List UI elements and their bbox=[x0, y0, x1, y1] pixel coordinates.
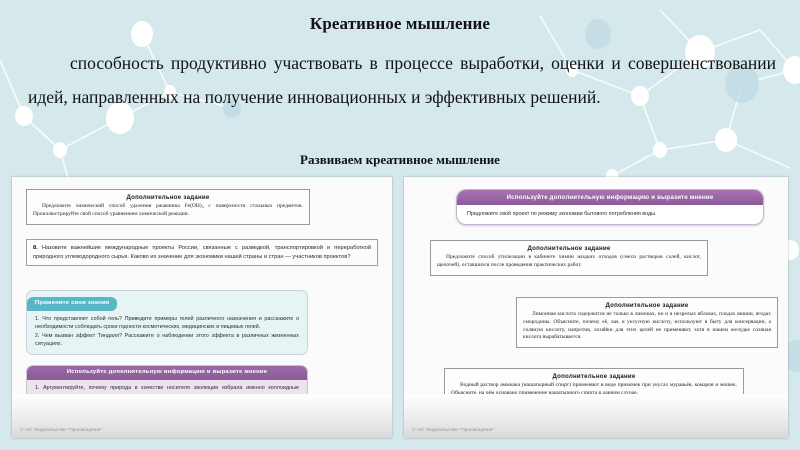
additional-task-heading-3: Дополнительное задание bbox=[451, 373, 737, 380]
additional-task-box-1: Дополнительное задание Предложите способ… bbox=[430, 240, 708, 276]
additional-task-box-3: Дополнительное задание Водный раствор ам… bbox=[444, 368, 744, 404]
slide-definition-text: способность продуктивно участвовать в пр… bbox=[28, 46, 776, 114]
textbook-page-left[interactable]: Дополнительное задание Предложите химиче… bbox=[12, 177, 392, 438]
numbered-question-box: 8. Назовите важнейшие международные прое… bbox=[26, 239, 378, 266]
slide-subtitle: Развиваем креативное мышление bbox=[0, 152, 800, 168]
additional-task-box: Дополнительное задание Предложите химиче… bbox=[26, 189, 310, 225]
textbook-page-right[interactable]: Используйте дополнительную информацию и … bbox=[404, 177, 788, 438]
apply-knowledge-item-2: 2. Чем вызван эффект Тиндаля? Расскажите… bbox=[35, 332, 299, 349]
additional-task-text-2: Лимонная кислота содержится не только в … bbox=[523, 311, 771, 342]
apply-knowledge-card: Примените свои знания 1. Что представляе… bbox=[26, 290, 308, 355]
copyright-right: © АО "Издательство "Просвещение" bbox=[412, 427, 494, 432]
additional-task-heading: Дополнительное задание bbox=[33, 194, 303, 201]
slide-title: Креативное мышление bbox=[0, 14, 800, 34]
use-info-express-opinion-heading: Используйте дополнительную информацию и … bbox=[27, 366, 307, 380]
question-text: Назовите важнейшие международные проекты… bbox=[33, 245, 371, 260]
additional-task-text: Предложите химический способ удаления рж… bbox=[33, 203, 303, 219]
additional-task-text-1: Предложите способ утилизации в кабинете … bbox=[437, 254, 701, 270]
use-info-express-opinion-card: Используйте дополнительную информацию и … bbox=[26, 365, 308, 424]
additional-task-heading-1: Дополнительное задание bbox=[437, 245, 701, 252]
use-info-express-opinion-heading-right: Используйте дополнительную информацию и … bbox=[457, 190, 763, 205]
additional-task-box-2: Дополнительное задание Лимонная кислота … bbox=[516, 297, 778, 348]
apply-knowledge-heading: Примените свои знания bbox=[27, 297, 117, 311]
presentation-slide: Креативное мышление способность продукти… bbox=[0, 0, 800, 450]
opinion-item-2: 2. Подготовьте сообщение на тему «Эстети… bbox=[35, 401, 299, 418]
use-info-express-opinion-text-right: Предложите свой проект по режиму экономи… bbox=[457, 205, 763, 224]
opinion-item-1: 1. Аргументируйте, почему природа в каче… bbox=[35, 384, 299, 401]
apply-knowledge-item-1: 1. Что представляет собой гель? Приведит… bbox=[35, 315, 299, 332]
use-info-express-opinion-card-right: Используйте дополнительную информацию и … bbox=[456, 189, 764, 225]
additional-task-text-3: Водный раствор аммиака (нашатырный спирт… bbox=[451, 382, 737, 398]
copyright-left: © АО "Издательство "Просвещение" bbox=[20, 427, 102, 432]
additional-task-heading-2: Дополнительное задание bbox=[523, 302, 771, 309]
question-number: 8. bbox=[33, 245, 38, 251]
